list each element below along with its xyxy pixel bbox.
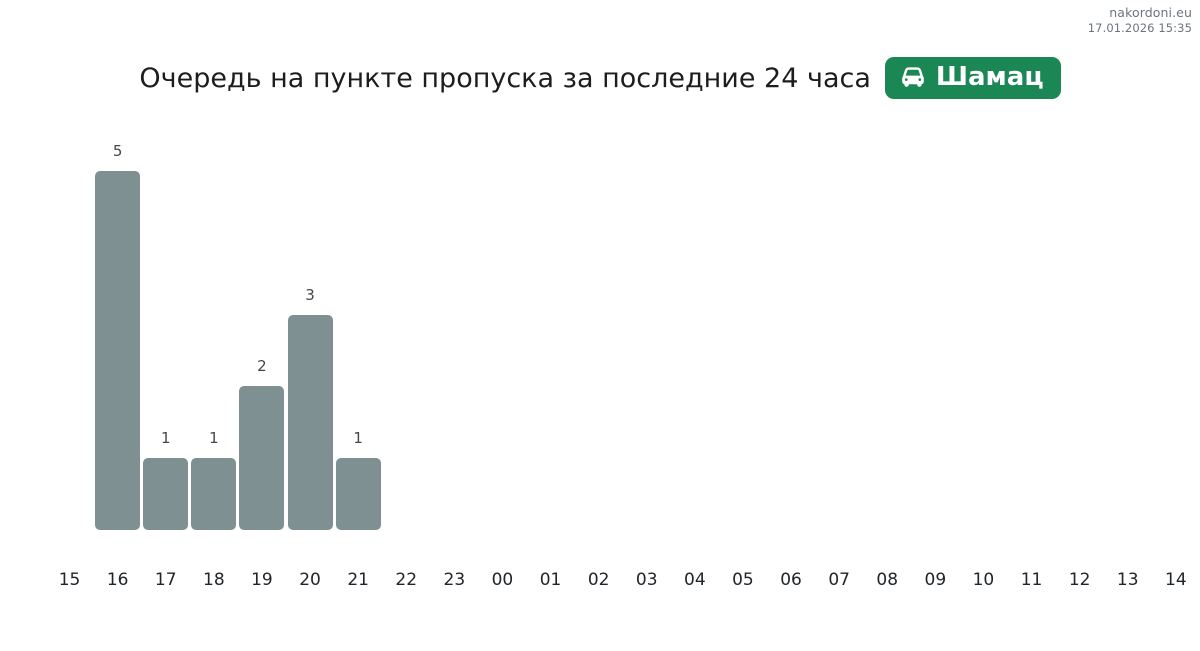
queue-bar-chart: 511231 151617181920212223000102030405060…	[0, 0, 1200, 651]
x-tick-14: 14	[1146, 572, 1200, 589]
x-axis-ticks: 1516171819202122230001020304050607080910…	[0, 0, 1200, 651]
